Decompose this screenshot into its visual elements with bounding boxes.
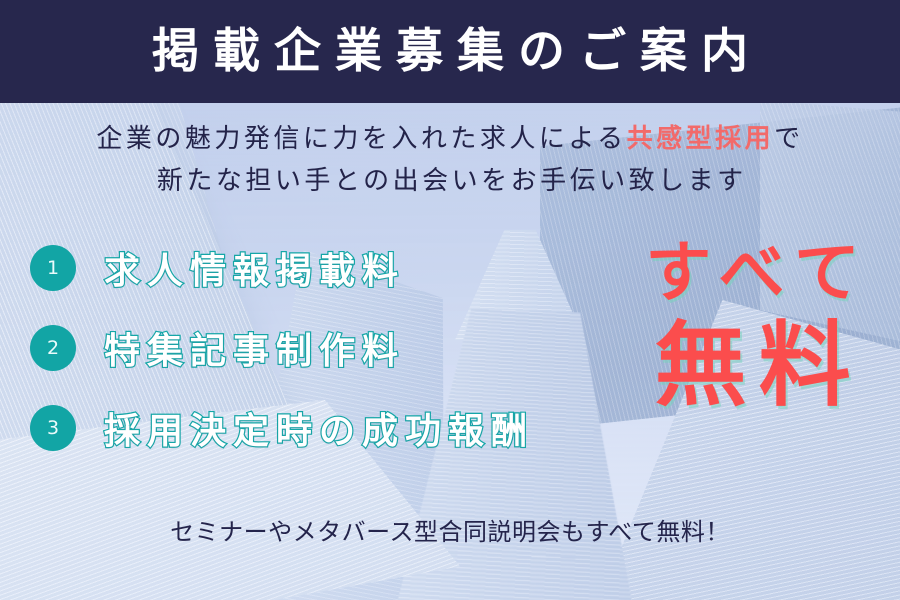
free-callout-line-1: すべて [633,240,872,306]
subtitle-line-1-after: で [774,124,804,154]
page-title: 掲載企業募集のご案内 [138,28,762,75]
poster-root: 掲載企業募集のご案内 企業の魅力発信に力を入れた求人による共感型採用で 新たな担… [0,0,900,600]
list-item-number-badge: 1 [30,245,76,291]
list-item: 2 特集記事制作料 [30,308,534,388]
list-item: 1 求人情報掲載料 [30,228,534,308]
list-item-label: 特集記事制作料 [104,322,405,374]
subtitle-line-2: 新たな担い手との出会いをお手伝い致します [0,160,900,202]
subtitle-block: 企業の魅力発信に力を入れた求人による共感型採用で 新たな担い手との出会いをお手伝… [0,118,900,202]
free-callout: すべて 無料 [633,240,872,412]
list-item-number-badge: 3 [30,405,76,451]
list-item-number-badge: 2 [30,325,76,371]
list-item-label: 採用決定時の成功報酬 [104,402,534,454]
subtitle-highlight-term: 共感型採用 [627,124,775,154]
list-item-number: 3 [47,419,59,438]
header-band: 掲載企業募集のご案内 [0,0,900,103]
list-item-number: 2 [47,339,59,358]
free-callout-line-2: 無料 [633,320,872,412]
list-item: 3 採用決定時の成功報酬 [30,388,534,468]
footer-note: セミナーやメタバース型合同説明会もすべて無料！ [0,512,900,547]
list-item-label: 求人情報掲載料 [104,242,405,294]
list-item-number: 1 [47,259,59,278]
benefits-list: 1 求人情報掲載料 2 特集記事制作料 3 採用決定時の成功報酬 [30,228,534,468]
subtitle-line-1: 企業の魅力発信に力を入れた求人による共感型採用で [0,118,900,160]
subtitle-line-1-before: 企業の魅力発信に力を入れた求人による [96,124,626,154]
